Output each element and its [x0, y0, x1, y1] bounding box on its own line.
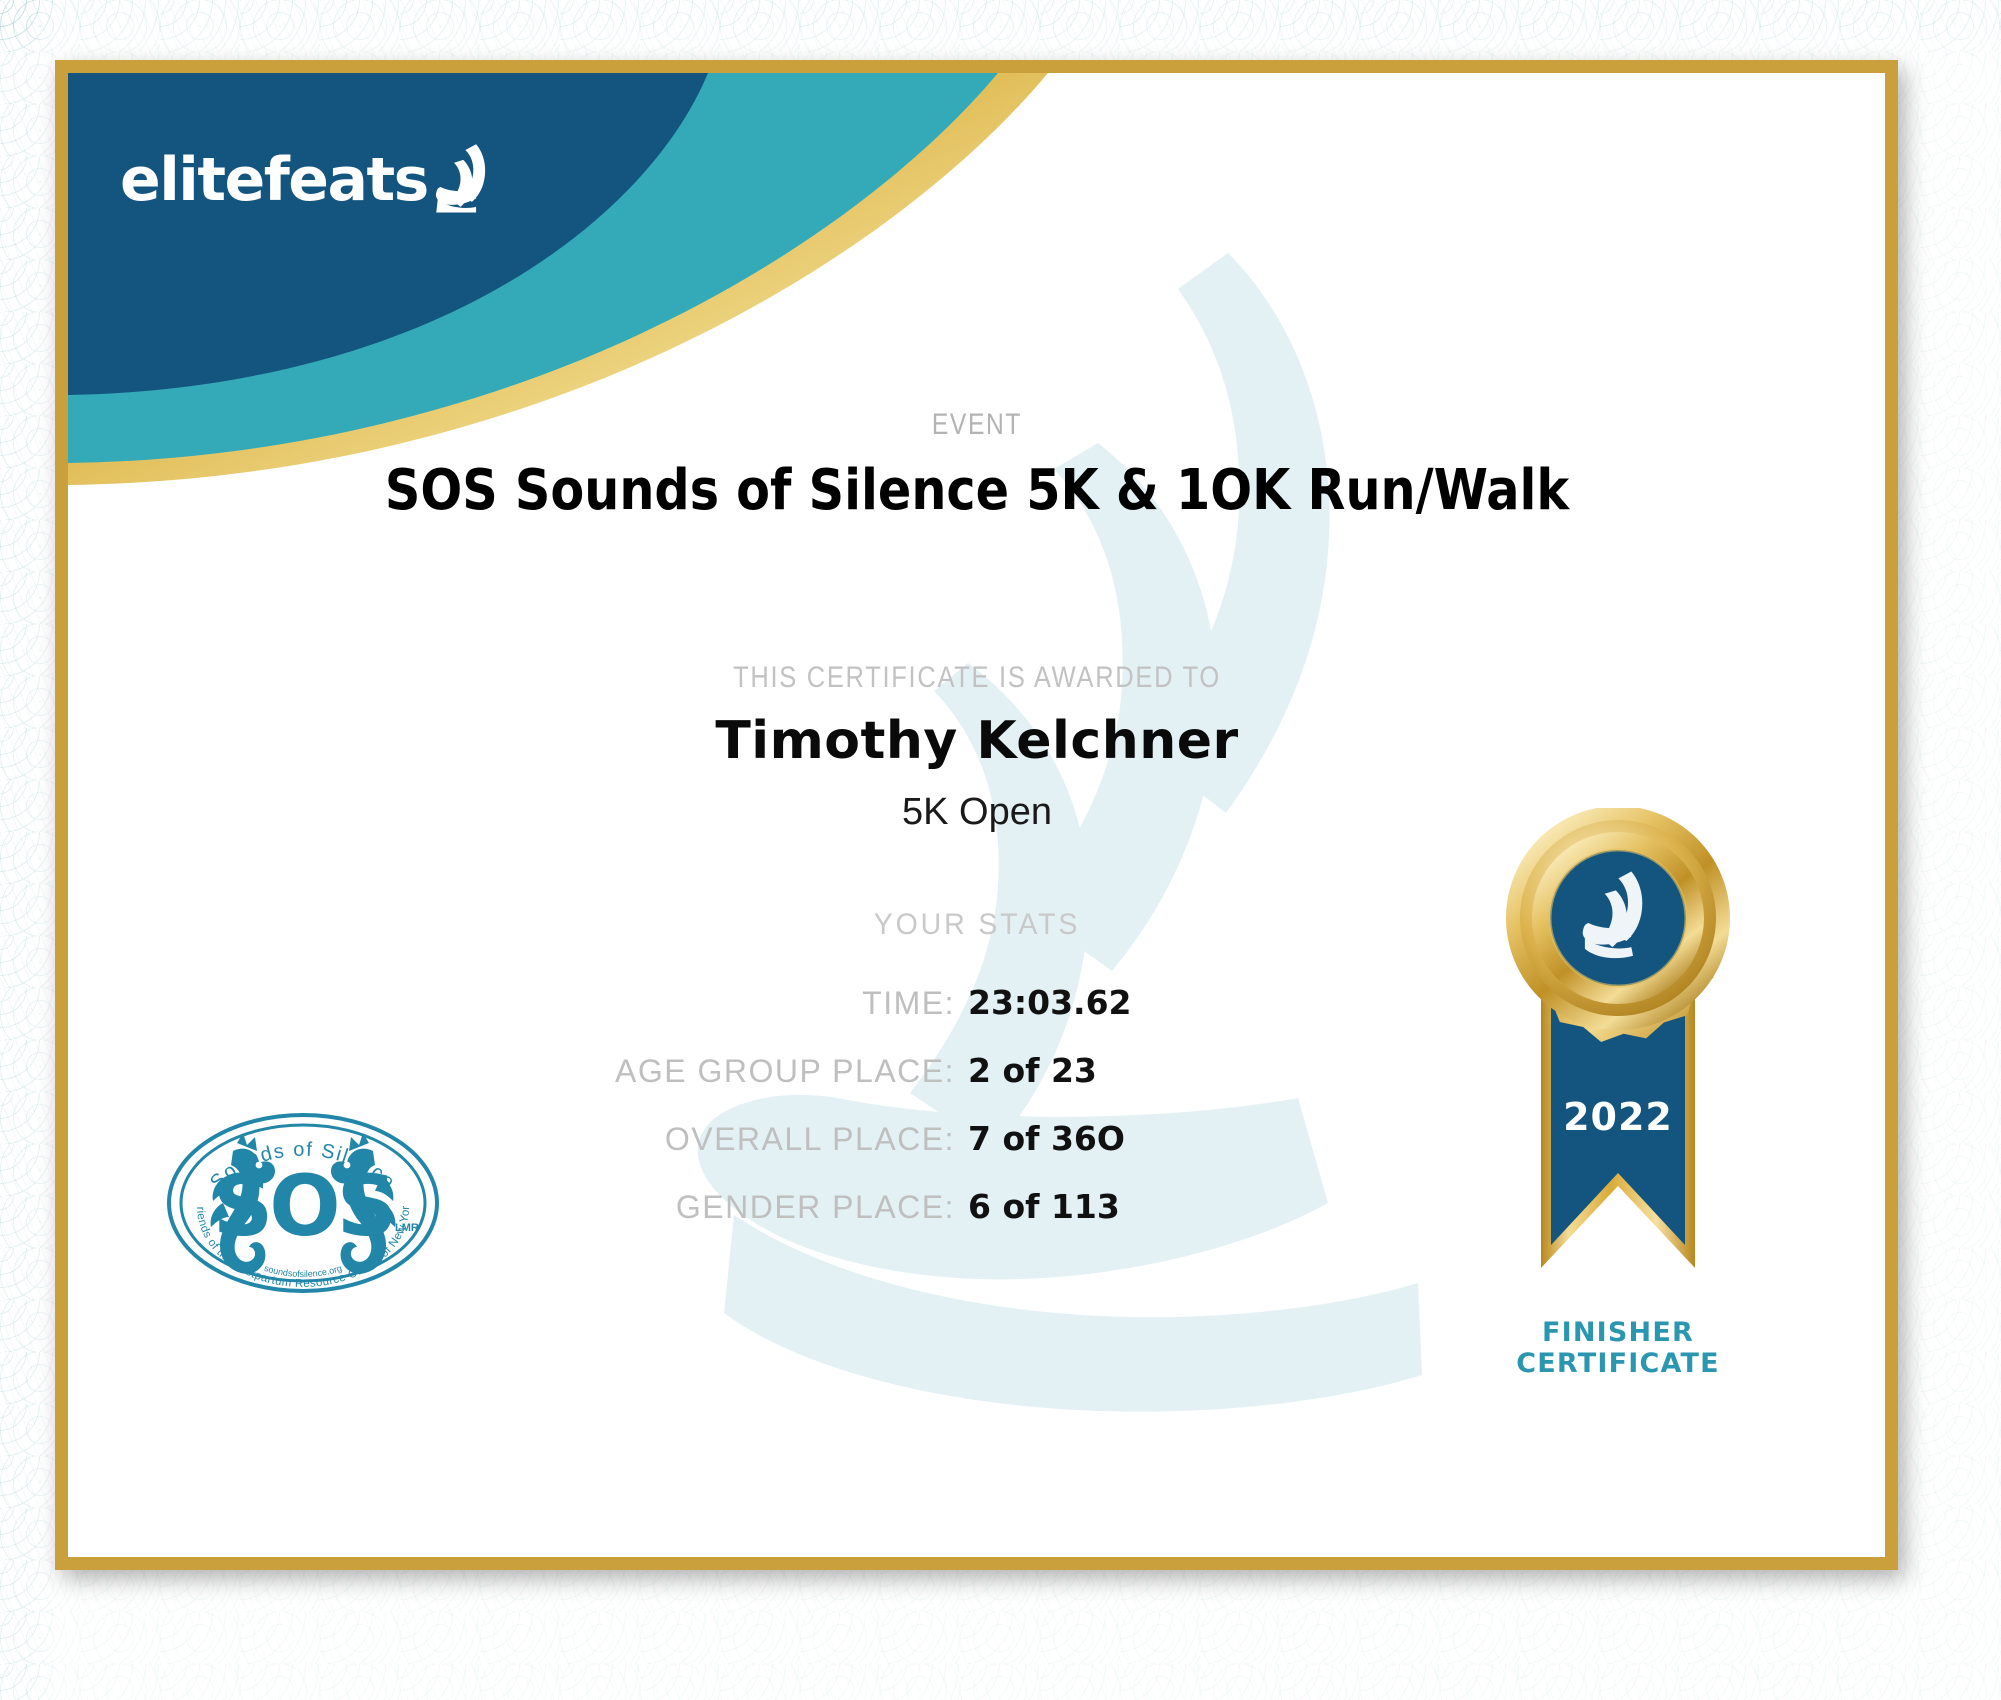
- stat-label: OVERALL PLACE:: [665, 1121, 955, 1158]
- certificate-page: elitefeats EVENT SOS Sounds of Sile: [0, 0, 2001, 1700]
- elitefeats-logo: elitefeats: [120, 141, 496, 218]
- stat-value: 6 of 113: [968, 1187, 1198, 1226]
- stat-value: 7 of 36O: [968, 1119, 1198, 1158]
- stat-label: TIME:: [862, 985, 955, 1022]
- stat-label: GENDER PLACE:: [676, 1189, 955, 1226]
- finisher-medal: 2022: [1463, 808, 1773, 1338]
- certificate-card: elitefeats EVENT SOS Sounds of Sile: [55, 60, 1898, 1570]
- medal-year: 2022: [1563, 1095, 1673, 1139]
- event-label: EVENT: [232, 408, 1723, 442]
- sos-center-text: SOS: [213, 1157, 393, 1255]
- stat-row-time: TIME: 23:03.62: [68, 983, 1198, 1029]
- medal-rosette: [1506, 808, 1730, 1042]
- stat-row-age-group-place: AGE GROUP PLACE: 2 of 23: [68, 1051, 1198, 1097]
- recipient-name: Timothy Kelchner: [68, 711, 1885, 771]
- medal-caption: FINISHER CERTIFICATE: [1448, 1318, 1788, 1380]
- medal-caption-line1: FINISHER: [1448, 1318, 1788, 1349]
- event-title: SOS Sounds of Silence 5K & 1OK Run/Walk: [177, 458, 1777, 523]
- elitefeats-wordmark: elitefeats: [120, 150, 428, 210]
- medal-ribbon: 2022: [1541, 998, 1695, 1268]
- awarded-to-label: THIS CERTIFICATE IS AWARDED TO: [204, 661, 1749, 695]
- winged-foot-icon: [432, 141, 496, 218]
- medal-caption-line2: CERTIFICATE: [1448, 1349, 1788, 1380]
- certificate-inner: elitefeats EVENT SOS Sounds of Sile: [68, 73, 1885, 1557]
- stat-value: 2 of 23: [968, 1051, 1198, 1090]
- stat-value: 23:03.62: [968, 983, 1198, 1022]
- stat-label: AGE GROUP PLACE:: [615, 1053, 955, 1090]
- sos-charity-logo: Sounds of Silence: [163, 1103, 443, 1303]
